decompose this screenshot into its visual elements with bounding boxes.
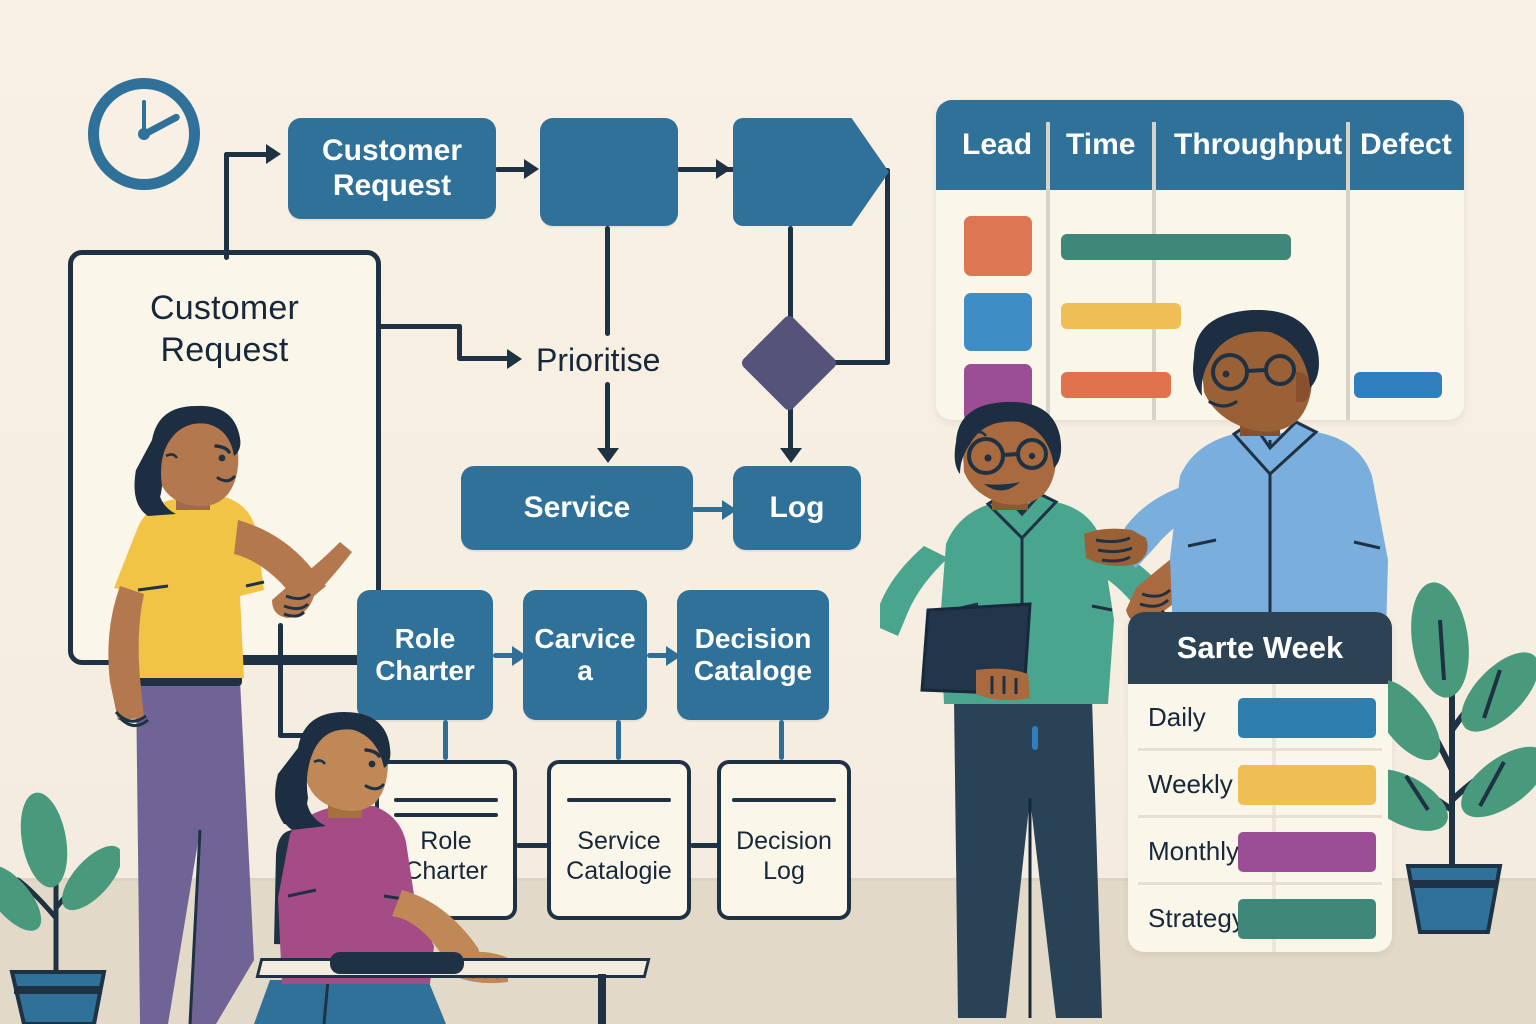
doc-decision-log[interactable]: Decision Log <box>717 760 851 920</box>
metrics-table-header: Lead Time Throughput Defect <box>936 100 1464 190</box>
doc-service-catalogie-rules <box>551 798 687 802</box>
metrics-col-time: Time <box>1066 100 1135 190</box>
cadence-label-weekly: Weekly <box>1148 751 1233 818</box>
cadence-label-daily: Daily <box>1148 684 1206 751</box>
arrowhead-to-customer-request <box>266 144 281 164</box>
computer-mouse <box>330 952 464 974</box>
doc-service-catalogie[interactable]: Service Catalogie <box>547 760 691 920</box>
node-customer-request[interactable]: Customer Request <box>288 118 496 219</box>
cadence-table[interactable]: Sarte Week Daily Weekly Monthly Strategy <box>1128 612 1392 952</box>
cadence-bar-weekly <box>1238 765 1376 805</box>
connector-drop-carvice <box>616 720 621 760</box>
node-blank-process[interactable] <box>540 118 678 226</box>
doc-service-catalogie-label: Service Catalogie <box>566 827 672 886</box>
arrowhead-to-process <box>524 159 539 179</box>
arrowhead-to-service <box>597 448 619 463</box>
node-prioritise-label: Prioritise <box>536 342 660 379</box>
node-role-charter-line2: Charter <box>375 655 475 686</box>
cadence-bar-monthly <box>1238 832 1376 872</box>
node-decision-cataloge-line1: Decision <box>695 623 812 654</box>
connector-drop-decision <box>779 720 784 760</box>
node-service[interactable]: Service <box>461 466 693 550</box>
cadence-row-daily[interactable]: Daily <box>1128 684 1392 751</box>
whiteboard-title: Customer Request <box>73 287 376 371</box>
cadence-bar-daily <box>1238 698 1376 738</box>
connector-doc-service-to-decision <box>690 843 719 848</box>
metrics-bar-throughput-1 <box>1061 234 1291 260</box>
plant-right <box>1388 470 1536 940</box>
connector-doc-role-to-service <box>516 843 549 848</box>
node-decision-cataloge[interactable]: Decision Cataloge <box>677 590 829 720</box>
arrowhead-to-prioritise <box>507 349 522 369</box>
node-customer-request-line1: Customer <box>322 134 462 167</box>
cadence-label-strategy: Strategy <box>1148 885 1245 952</box>
node-role-charter-line1: Role <box>395 623 456 654</box>
node-customer-request-line2: Request <box>333 169 451 202</box>
cadence-row-strategy[interactable]: Strategy <box>1128 885 1392 952</box>
connector-wb-to-customer-horizontal <box>224 152 272 157</box>
illustration-canvas: Customer Request Customer Request <box>0 0 1536 1024</box>
node-decision-cataloge-line2: Cataloge <box>694 655 812 686</box>
cadence-row-monthly[interactable]: Monthly <box>1128 818 1392 885</box>
arrowhead-to-log <box>780 448 802 463</box>
cadence-label-monthly: Monthly <box>1148 818 1239 885</box>
doc-decision-log-rules <box>721 798 847 802</box>
arrowhead-to-pentagon <box>716 159 731 179</box>
connector-pentagon-loop-right <box>885 168 890 364</box>
metrics-swatch-1 <box>964 216 1032 276</box>
metrics-divider-1 <box>1046 122 1050 420</box>
connector-wb-to-customer-vertical <box>224 152 229 260</box>
cadence-row-weekly[interactable]: Weekly <box>1128 751 1392 818</box>
node-carvice[interactable]: Carvice a <box>523 590 647 720</box>
cadence-bar-strategy <box>1238 899 1376 939</box>
plant-left <box>0 768 120 1024</box>
connector-pentagon-down <box>788 226 793 330</box>
clock-icon <box>88 78 200 190</box>
desk-leg <box>598 974 606 1024</box>
connector-prioritise-to-service <box>605 382 610 454</box>
metrics-col-defect: Defect <box>1360 100 1452 190</box>
connector-wb-right-v <box>457 324 462 360</box>
metrics-col-throughput: Throughput <box>1174 100 1342 190</box>
metrics-col-lead: Lead <box>962 100 1032 190</box>
node-log[interactable]: Log <box>733 466 861 550</box>
metrics-swatch-2 <box>964 293 1032 351</box>
connector-process-down <box>605 226 610 336</box>
node-carvice-line1: Carvice <box>534 623 635 654</box>
doc-decision-log-label: Decision Log <box>736 827 832 886</box>
node-carvice-line2: a <box>577 655 593 686</box>
cadence-table-header: Sarte Week <box>1128 612 1392 684</box>
connector-wb-right-h1 <box>378 324 462 329</box>
